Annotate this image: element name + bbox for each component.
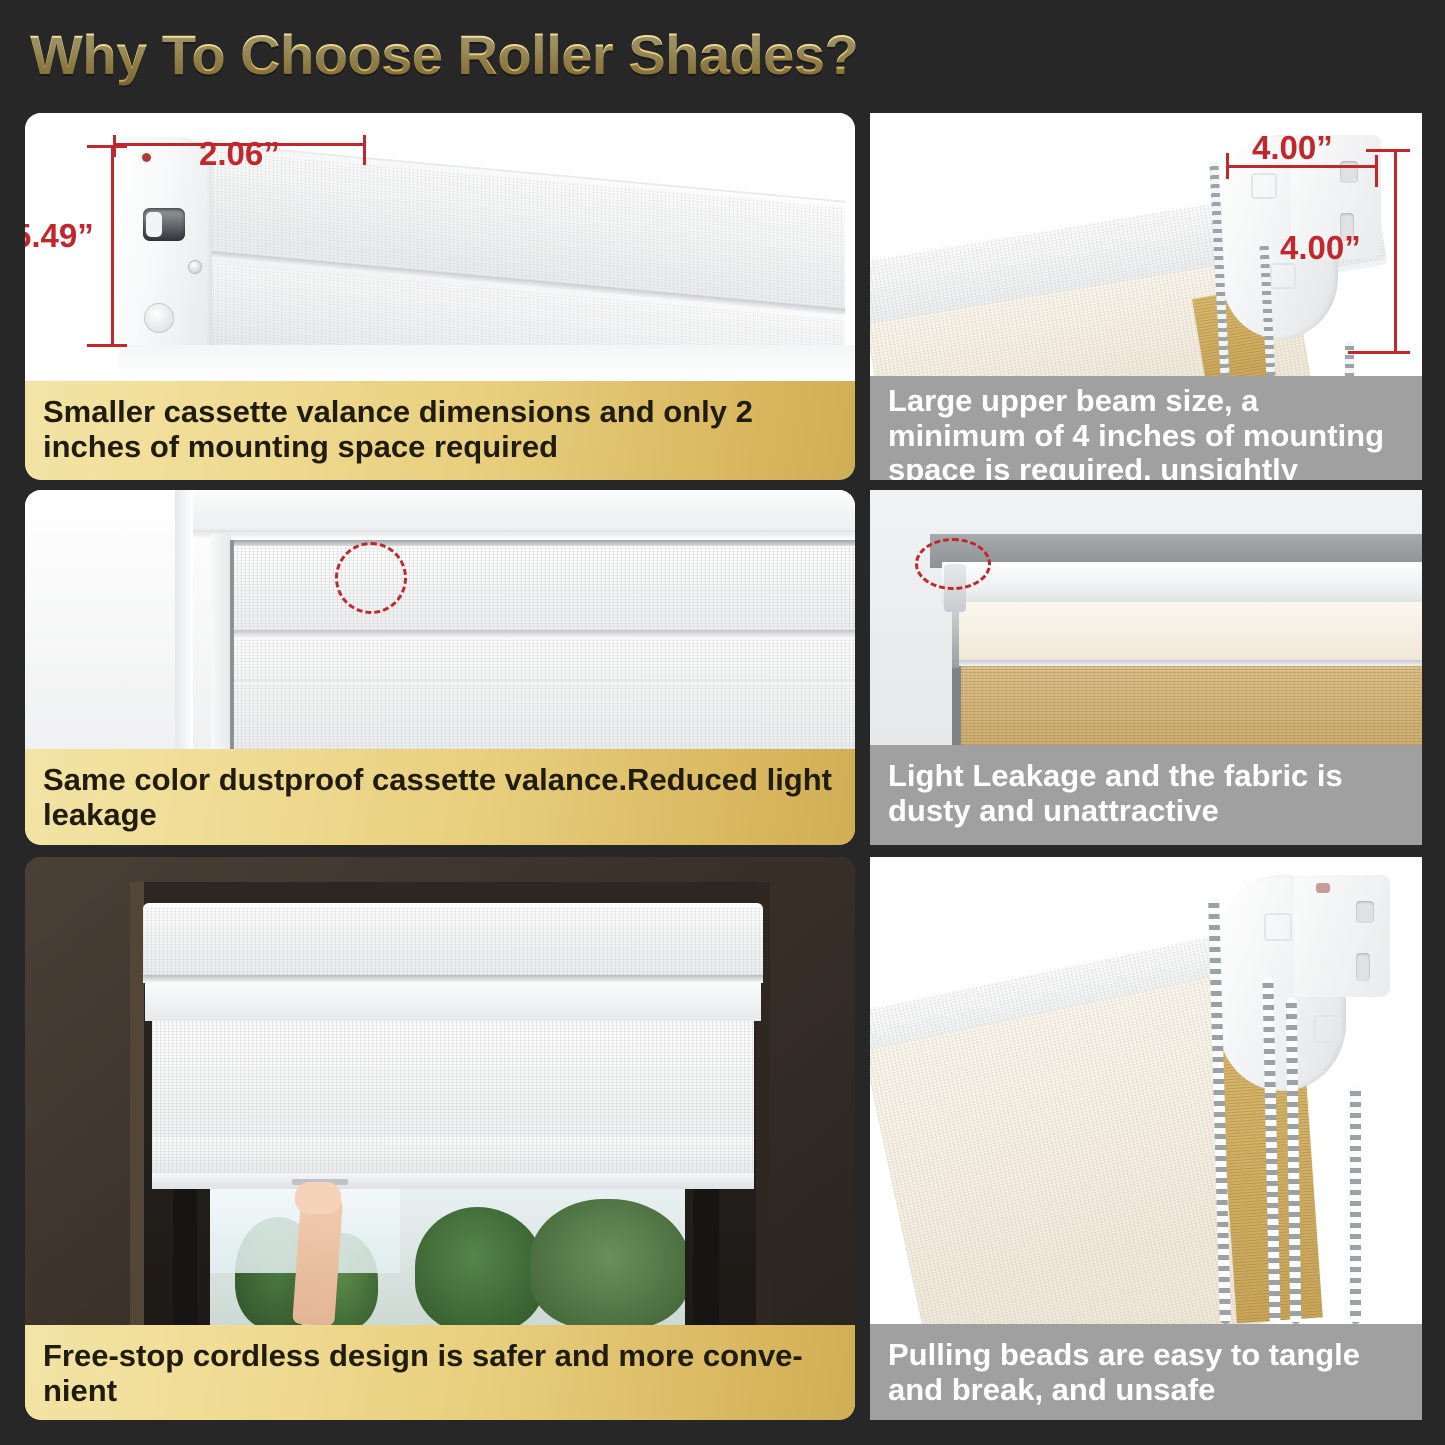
caption-bottom-left-text: Free-stop cordless design is safer and m… bbox=[43, 1339, 835, 1408]
caption-bottom-left: Free-stop cordless design is safer and m… bbox=[25, 1325, 855, 1420]
height-dimension-line bbox=[111, 145, 114, 347]
caption-top-left-text: Smaller cassette valance dimensions and … bbox=[43, 395, 835, 464]
panel-middle-right-photo: Large gap bbox=[870, 490, 1422, 745]
caption-top-right-text: Large upper beam size, a minimum of 4 in… bbox=[888, 384, 1402, 480]
panel-top-right: 4.00” 4.00” Large upper beam size, a min… bbox=[870, 113, 1422, 480]
panel-bottom-right: Pulling beads are easy to tangle and bre… bbox=[870, 857, 1422, 1420]
panel-middle-right: Large gap Light Leakage and the fabric i… bbox=[870, 490, 1422, 845]
bracket-height-label: 4.00” bbox=[1280, 229, 1361, 267]
highlight-circle-icon bbox=[335, 542, 407, 614]
caption-middle-right: Light Leakage and the fabric is dusty an… bbox=[870, 745, 1422, 845]
panel-top-right-photo: 4.00” 4.00” bbox=[870, 113, 1422, 376]
page-title: Why To Choose Roller Shades? bbox=[30, 22, 858, 87]
panel-top-left: 5.49” 2.06” Smaller cassette valance dim… bbox=[25, 113, 855, 480]
caption-top-right: Large upper beam size, a minimum of 4 in… bbox=[870, 376, 1422, 480]
caption-top-left: Smaller cassette valance dimensions and … bbox=[25, 381, 855, 480]
panel-bottom-left: Free-stop cordless design is safer and m… bbox=[25, 857, 855, 1420]
panel-bottom-right-photo bbox=[870, 857, 1422, 1324]
infographic-root: Why To Choose Roller Shades? bbox=[0, 0, 1445, 1445]
panel-bottom-left-photo bbox=[25, 857, 855, 1325]
caption-bottom-right-text: Pulling beads are easy to tangle and bre… bbox=[888, 1338, 1402, 1407]
highlight-circle-icon bbox=[915, 538, 991, 590]
width-dimension-label: 2.06” bbox=[199, 135, 280, 173]
panel-top-left-photo: 5.49” 2.06” bbox=[25, 113, 855, 381]
bead-chain bbox=[1345, 341, 1354, 376]
caption-bottom-right: Pulling beads are easy to tangle and bre… bbox=[870, 1324, 1422, 1420]
panel-middle-left-photo: smaller gap bbox=[25, 490, 855, 749]
caption-middle-left-text: Same color dustproof cassette valance.Re… bbox=[43, 763, 835, 832]
caption-middle-right-text: Light Leakage and the fabric is dusty an… bbox=[888, 759, 1402, 828]
height-dimension-label: 5.49” bbox=[25, 217, 94, 255]
caption-middle-left: Same color dustproof cassette valance.Re… bbox=[25, 749, 855, 845]
panel-middle-left: smaller gap Same color dustproof cassett… bbox=[25, 490, 855, 845]
bead-chain bbox=[1350, 1085, 1361, 1324]
bracket-width-label: 4.00” bbox=[1252, 129, 1333, 167]
bracket-height-line bbox=[1394, 149, 1397, 353]
